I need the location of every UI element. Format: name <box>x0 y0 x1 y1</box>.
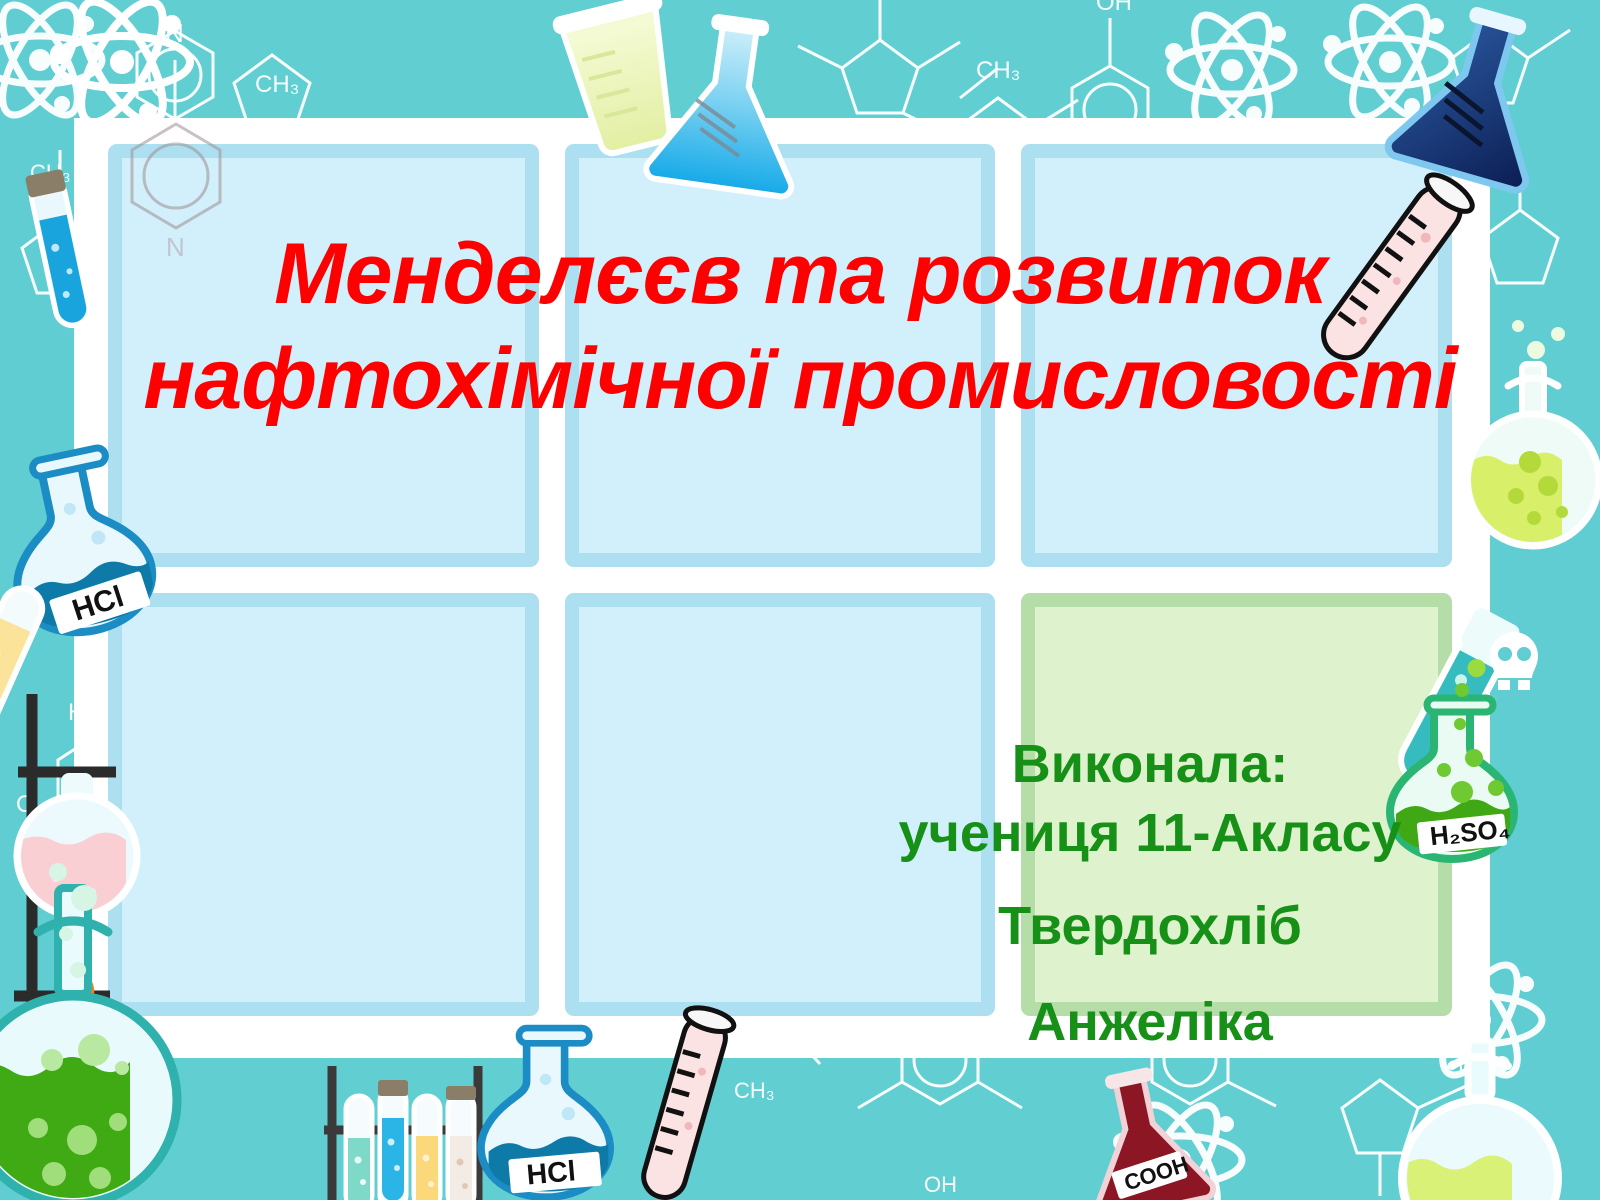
svg-text:CH₃: CH₃ <box>976 57 1020 84</box>
flask-darkred-icon: COOH <box>1069 1059 1215 1200</box>
svg-text:N: N <box>165 18 184 48</box>
test-tube-yellow-icon <box>0 582 49 744</box>
svg-text:O: O <box>16 791 35 818</box>
svg-text:CH₃: CH₃ <box>734 1078 775 1103</box>
presentation-slide: N CH₃ N CH₃ CH₃ OH OH <box>0 0 1600 1200</box>
svg-text:OOH: OOH <box>1446 1056 1496 1081</box>
atom-icon <box>50 0 200 134</box>
skull-icon <box>1490 632 1538 690</box>
author-surname: Твердохліб <box>830 890 1470 963</box>
content-panel-4[interactable] <box>108 593 539 1016</box>
author-label: Виконала: <box>830 730 1470 799</box>
svg-text:CH₃: CH₃ <box>255 71 299 98</box>
svg-text:CH₃: CH₃ <box>30 160 71 185</box>
test-tube-rack-icon <box>314 1066 500 1200</box>
svg-text:OH: OH <box>924 1172 957 1197</box>
title-line-2: нафтохімічної промисловості <box>120 327 1480 432</box>
title-line-1: Менделєєв та розвиток <box>120 222 1480 327</box>
author-class: учениця 11-Акласу <box>830 799 1470 868</box>
svg-text:HCl: HCl <box>525 1155 577 1191</box>
svg-text:COOH: COOH <box>1121 1151 1191 1195</box>
author-first-name: Анжеліка <box>830 986 1470 1059</box>
slide-title: Менделєєв та розвиток нафтохімічної пром… <box>120 222 1480 432</box>
svg-text:OH: OH <box>1096 0 1132 16</box>
author-block: Виконала: учениця 11-Акласу Твердохліб А… <box>830 730 1470 1059</box>
round-flask-bottomright-icon <box>1400 1040 1558 1200</box>
